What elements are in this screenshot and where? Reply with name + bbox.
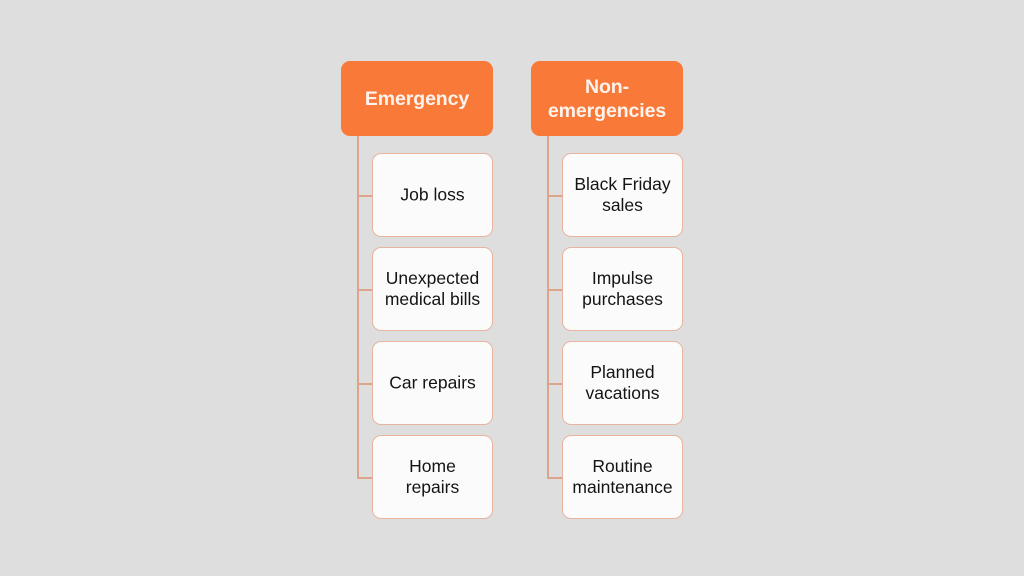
node-child-label: Home repairs bbox=[363, 456, 502, 498]
node-child[interactable]: Home repairs bbox=[372, 435, 493, 519]
node-child[interactable]: Planned vacations bbox=[562, 341, 683, 425]
connector-trunk bbox=[547, 136, 549, 477]
node-child-label: Planned vacations bbox=[553, 362, 692, 404]
node-child[interactable]: Car repairs bbox=[372, 341, 493, 425]
diagram-canvas: Emergency Job loss Unexpected medical bi… bbox=[0, 0, 1024, 576]
node-header-label: Non- emergencies bbox=[519, 75, 695, 123]
node-child-label: Impulse purchases bbox=[553, 268, 692, 310]
node-child[interactable]: Routine maintenance bbox=[562, 435, 683, 519]
node-child-label: Unexpected medical bills bbox=[363, 268, 502, 310]
node-child[interactable]: Unexpected medical bills bbox=[372, 247, 493, 331]
node-child-label: Black Friday sales bbox=[553, 174, 692, 216]
node-child[interactable]: Job loss bbox=[372, 153, 493, 237]
connector-trunk bbox=[357, 136, 359, 477]
node-child-label: Car repairs bbox=[363, 373, 502, 394]
node-child[interactable]: Impulse purchases bbox=[562, 247, 683, 331]
node-header-non-emergencies[interactable]: Non- emergencies bbox=[531, 61, 683, 136]
node-header-emergency[interactable]: Emergency bbox=[341, 61, 493, 136]
node-child-label: Routine maintenance bbox=[553, 456, 692, 498]
node-child[interactable]: Black Friday sales bbox=[562, 153, 683, 237]
node-child-label: Job loss bbox=[363, 185, 502, 206]
node-header-label: Emergency bbox=[329, 87, 505, 111]
